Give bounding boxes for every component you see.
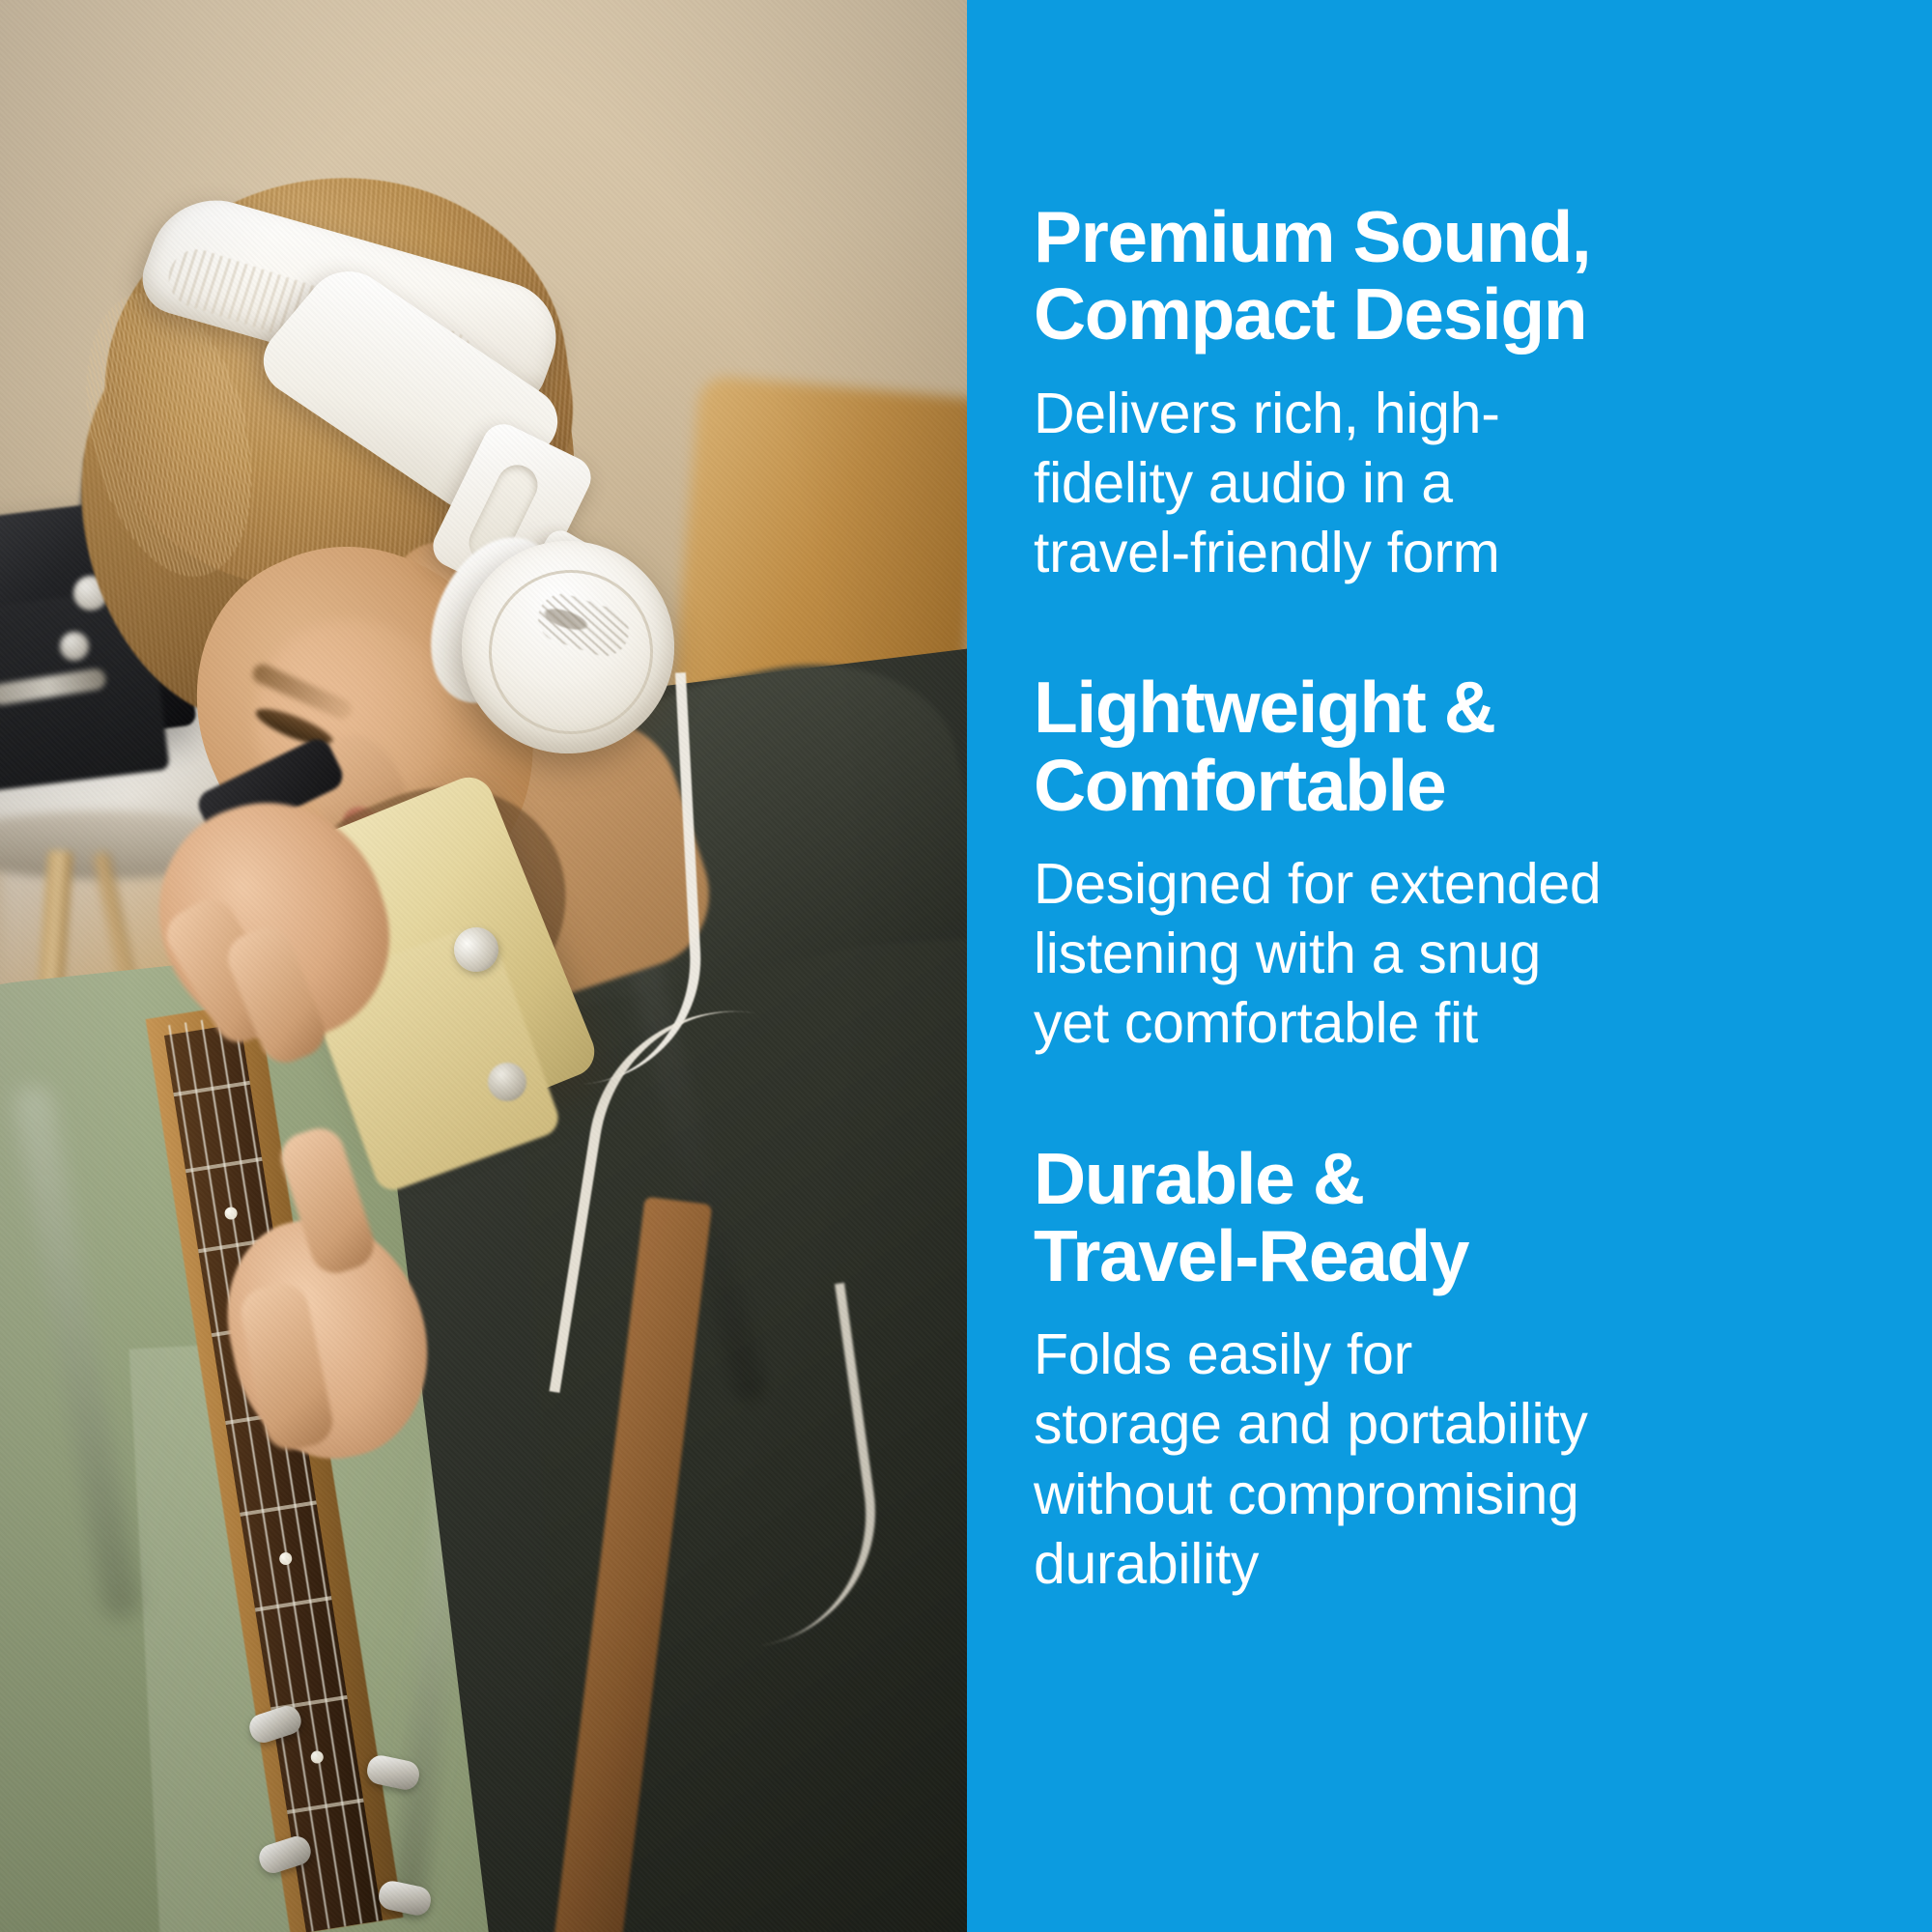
feature-item-premium-sound: Premium Sound, Compact Design Delivers r…: [1034, 198, 1840, 587]
product-lifestyle-photo: [0, 0, 967, 1932]
amplifier-knob-secondary: [60, 632, 89, 661]
feature-item-durable-travel-ready: Durable & Travel-Ready Folds easily for …: [1034, 1140, 1840, 1600]
feature-item-lightweight-comfortable: Lightweight & Comfortable Designed for e…: [1034, 668, 1840, 1058]
feature-title: Lightweight & Comfortable: [1034, 668, 1840, 824]
feature-description: Folds easily for storage and portability…: [1034, 1320, 1613, 1599]
product-feature-infographic: Premium Sound, Compact Design Delivers r…: [0, 0, 1932, 1932]
feature-list-panel: Premium Sound, Compact Design Delivers r…: [967, 0, 1932, 1932]
feature-description: Designed for extended listening with a s…: [1034, 849, 1613, 1059]
guitar-control-knob-secondary: [488, 1063, 526, 1101]
feature-description: Delivers rich, high-fidelity audio in a …: [1034, 379, 1613, 588]
feature-title: Premium Sound, Compact Design: [1034, 198, 1840, 354]
feature-title: Durable & Travel-Ready: [1034, 1140, 1840, 1295]
